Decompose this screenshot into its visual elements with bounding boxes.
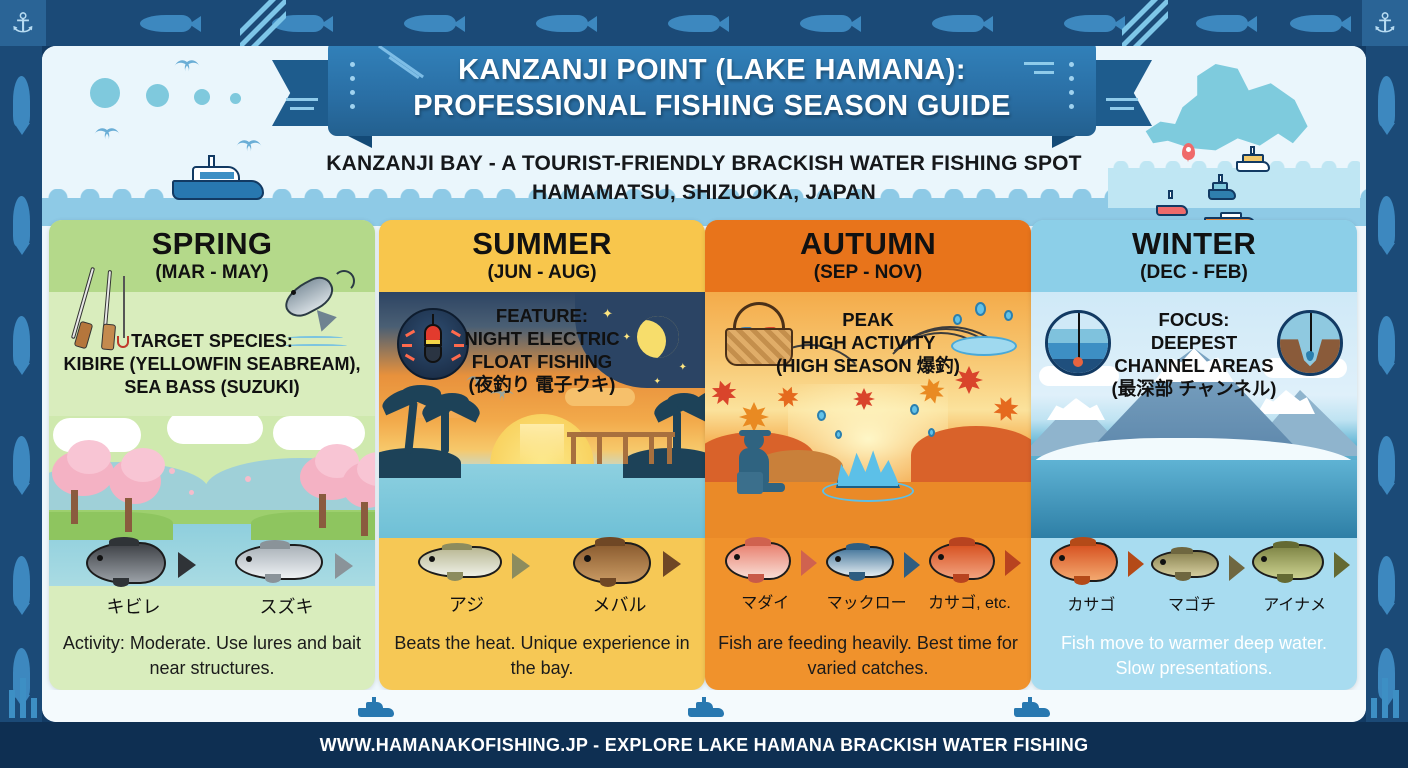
fish-silhouette-icon [668,15,720,32]
fish-item: アイナメ [1252,544,1338,615]
mountain-snowcap [1047,398,1105,420]
fish-silhouette-icon [404,15,456,32]
fish-label: マックロー [826,589,908,613]
season-header-winter: WINTER (DEC - FEB) [1031,220,1357,292]
fish-silhouette-icon [13,76,30,126]
poster-title: KANZANJI POINT (LAKE HAMANA): PROFESSION… [328,52,1096,124]
title-line-1: KANZANJI POINT (LAKE HAMANA): [328,52,1096,88]
footer-bar: WWW.HAMANAKOFISHING.JP - EXPLORE LAKE HA… [0,722,1408,768]
tagline-line-3: (HIGH SEASON 爆釣) [757,354,980,377]
bubble-decor [90,78,120,108]
bubble-decor [146,84,169,107]
fish-silhouette-icon [1378,556,1395,606]
subtitle-line-2: HAMAMATSU, SHIZUOKA, JAPAN [42,178,1366,207]
subtitle-line-1: KANZANJI BAY - A TOURIST-FRIENDLY BRACKI… [42,149,1366,178]
fish-item: カサゴ, etc. [928,542,1011,613]
fish-silhouette-icon [1378,316,1395,366]
season-tagline-winter: FOCUS: DEEPEST CHANNEL AREAS (最深部 チャンネル) [1083,308,1305,400]
fish-silhouette-icon [1196,15,1248,32]
tagline-line-2: DEEPEST [1089,331,1299,354]
season-description: Activity: Moderate. Use lures and bait n… [49,631,375,681]
fish-silhouette-icon [1290,15,1342,32]
season-header-autumn: AUTUMN (SEP - NOV) [705,220,1031,292]
small-boat-icon [1014,697,1050,717]
small-boat-icon [358,697,394,717]
season-name: SPRING [49,227,375,261]
season-card-summer[interactable]: SUMMER (JUN - AUG) ✦ ✦ ✦ ✦ [379,220,705,690]
ribbon-tail-line [286,98,318,101]
fish-silhouette-icon [932,15,984,32]
pier-icon [567,432,675,464]
star-icon: ✦ [679,362,687,373]
tagline-line-1: FEATURE: [440,304,643,327]
season-months: (SEP - NOV) [705,261,1031,285]
tagline-line-2: HIGH ACTIVITY [757,331,980,354]
winter-water [1031,460,1357,538]
fish-silhouette-icon [1064,15,1116,32]
season-name: SUMMER [379,227,705,261]
tagline-line-1: FOCUS: [1089,308,1299,331]
fish-item: マゴチ [1151,550,1233,615]
fish-item: キビレ [86,542,182,619]
hatch-decor-top-right [1122,0,1168,46]
anchor-icon: ⚓ [1362,0,1408,46]
season-tagline-autumn: PEAK HIGH ACTIVITY (HIGH SEASON 爆釣) [751,308,986,377]
ribbon-tail-line [1110,107,1134,110]
tagline-line-2: KIBIRE (YELLOWFIN SEABREAM), [55,353,369,376]
fish-item: メバル [573,542,667,617]
bar-decor-bottom-left [9,674,37,718]
season-months: (DEC - FEB) [1031,261,1357,285]
fish-label: スズキ [235,593,339,619]
footer-text: WWW.HAMANAKOFISHING.JP - EXPLORE LAKE HA… [320,735,1089,756]
fish-silhouette-icon [13,196,30,246]
fish-item: マダイ [725,542,805,613]
fish-label: カサゴ [1050,591,1132,615]
season-header-summer: SUMMER (JUN - AUG) [379,220,705,292]
tagline-line-1: PEAK [757,308,980,331]
season-card-autumn[interactable]: AUTUMN (SEP - NOV) [705,220,1031,690]
season-card-spring[interactable]: SPRING (MAR - MAY) TARGET SPECIES: KIBIR… [49,220,375,690]
title-line-2: PROFESSIONAL FISHING SEASON GUIDE [328,88,1096,124]
fish-row-autumn: マダイ マックロー [705,542,1031,613]
season-description: Fish are feeding heavily. Best time for … [705,631,1031,681]
season-months: (JUN - AUG) [379,261,705,285]
fish-label: マゴチ [1151,591,1233,615]
fish-silhouette-icon [1378,196,1395,246]
fish-silhouette-icon [13,436,30,486]
season-card-winter[interactable]: WINTER (DEC - FEB) FOC [1031,220,1357,690]
fish-label: マダイ [725,589,805,613]
anchor-icon: ⚓ [0,0,46,46]
fish-label: アイナメ [1252,591,1338,615]
fish-silhouette-icon [536,15,588,32]
fish-silhouette-icon [1378,436,1395,486]
fish-item: アジ [418,546,516,617]
fish-item: カサゴ [1050,542,1132,615]
fish-item: スズキ [235,544,339,619]
fish-silhouette-icon [1378,76,1395,126]
tagline-line-3: SEA BASS (SUZUKI) [55,376,369,399]
fish-row-winter: カサゴ マゴチ [1031,542,1357,615]
seagull-icon [94,128,120,139]
bottom-boat-strip [42,690,1366,722]
tagline-line-3: CHANNEL AREAS [1089,354,1299,377]
tagline-line-4: (夜釣り 電子ウキ) [440,373,643,396]
season-name: AUTUMN [705,227,1031,261]
ribbon-tail-line [1106,98,1138,101]
poster-subtitle: KANZANJI BAY - A TOURIST-FRIENDLY BRACKI… [42,149,1366,207]
cloud-decor [273,416,365,450]
fish-silhouette-icon [800,15,852,32]
star-icon: ✦ [653,376,661,387]
fish-label: メバル [573,591,667,617]
poster-canvas: KANZANJI POINT (LAKE HAMANA): PROFESSION… [42,46,1366,722]
fish-silhouette-icon [140,15,192,32]
title-ribbon: KANZANJI POINT (LAKE HAMANA): PROFESSION… [272,46,1152,140]
tagline-line-3: FLOAT FISHING [440,350,643,373]
water-splash-large [822,440,914,502]
fish-silhouette-icon [13,556,30,606]
season-description: Beats the heat. Unique experience in the… [379,631,705,681]
tagline-line-4: (最深部 チャンネル) [1089,377,1299,400]
bubble-decor [230,93,241,104]
maple-leaf-icon [708,377,741,410]
fish-row-summer: アジ メバル [379,542,705,617]
bar-decor-bottom-right [1371,674,1399,718]
season-tagline-spring: TARGET SPECIES: KIBIRE (YELLOWFIN SEABRE… [49,330,375,399]
fish-row-spring: キビレ スズキ [49,542,375,619]
season-description: Fish move to warmer deep water. Slow pre… [1031,631,1357,681]
cloud-decor [167,416,263,444]
fish-silhouette-icon [13,316,30,366]
small-boat-icon [688,697,724,717]
fish-label: アジ [418,591,516,617]
fish-label: カサゴ, etc. [928,589,1011,613]
fish-item: マックロー [826,546,908,613]
fish-label: キビレ [86,593,182,619]
tagline-line-2: NIGHT ELECTRIC [440,327,643,350]
season-name: WINTER [1031,227,1357,261]
hatch-decor-top-left [240,0,286,46]
tagline-line-1: TARGET SPECIES: [55,330,369,353]
season-tagline-summer: FEATURE: NIGHT ELECTRIC FLOAT FISHING (夜… [434,304,649,396]
islet-left [379,448,461,478]
ribbon-tail-line [290,107,314,110]
angler-silhouette [733,420,791,494]
seagull-icon [174,60,200,71]
bubble-decor [194,89,210,105]
